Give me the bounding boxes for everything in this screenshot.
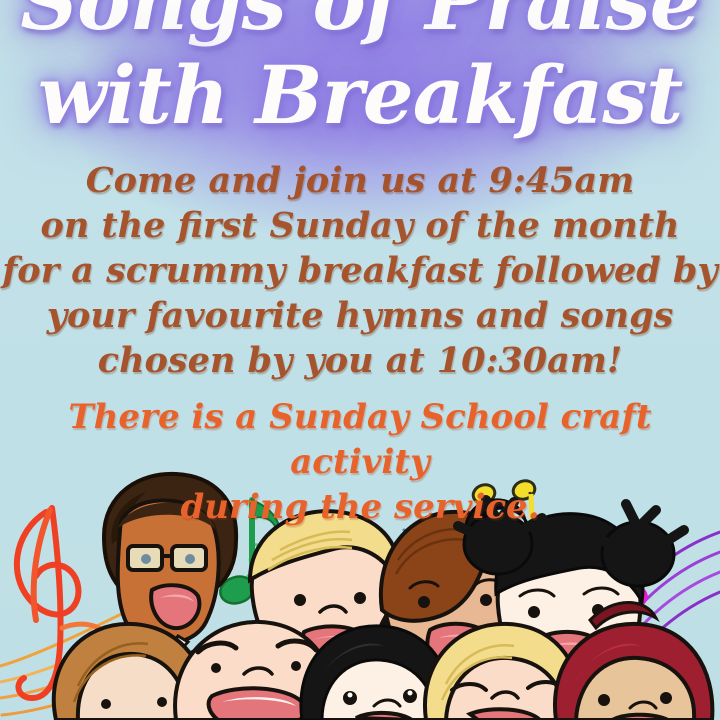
event-details-text: Come and join us at 9:45am on the first …: [0, 158, 720, 383]
body-line-2: on the first Sunday of the month: [0, 203, 720, 248]
page-title: Songs of Praise with Breakfast: [0, 0, 720, 142]
note-line-2: during the service.: [0, 485, 720, 530]
body-line-3: for a scrummy breakfast followed by: [0, 248, 720, 293]
body-line-1: Come and join us at 9:45am: [0, 158, 720, 203]
note-line-1: There is a Sunday School craft activity: [0, 395, 720, 485]
songs-of-praise-poster: Songs of Praise with Breakfast Come and …: [0, 0, 720, 720]
body-line-5: chosen by you at 10:30am!: [0, 338, 720, 383]
title-line-2: with Breakfast: [0, 48, 720, 142]
sunday-school-note: There is a Sunday School craft activity …: [0, 395, 720, 530]
body-line-4: your favourite hymns and songs: [0, 293, 720, 338]
title-line-1: Songs of Praise: [0, 0, 720, 48]
